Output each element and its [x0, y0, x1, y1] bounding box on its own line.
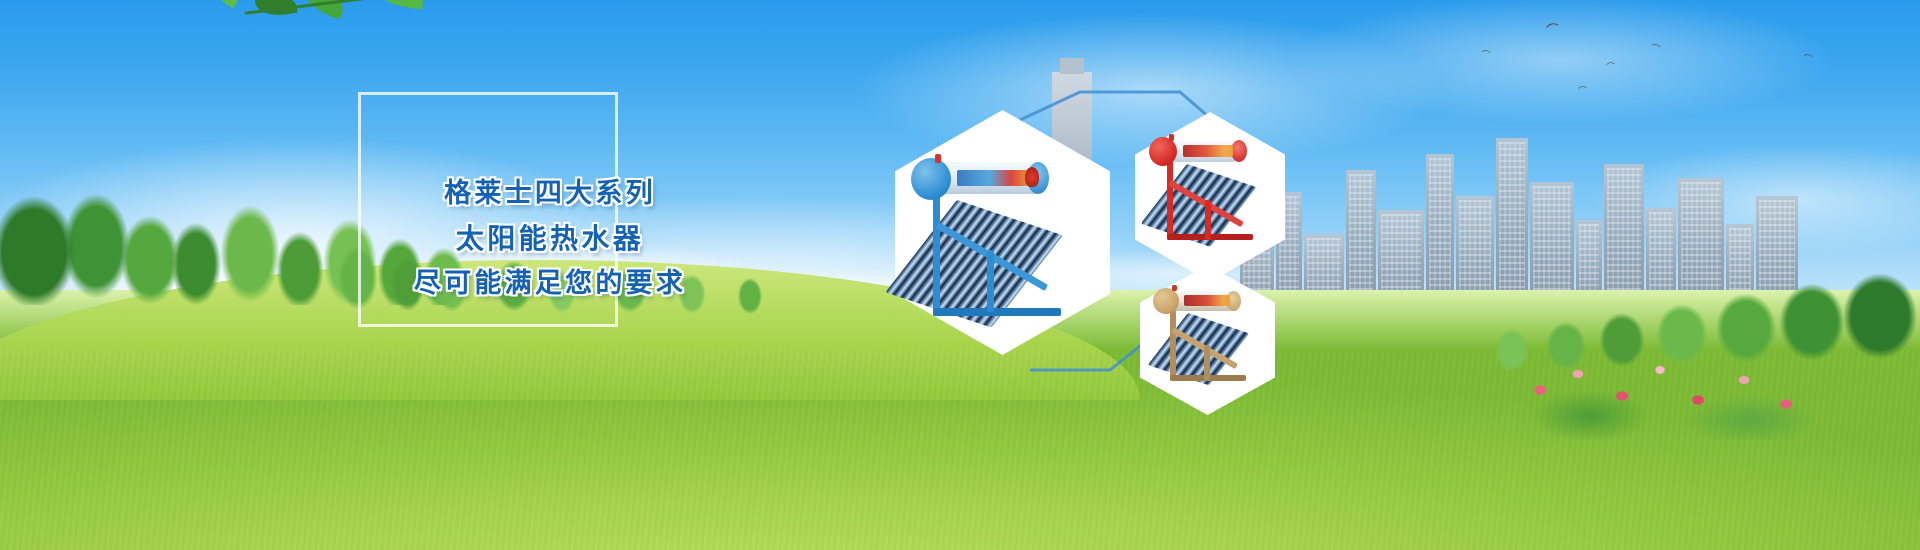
promo-banner: ︵ ︵ ︵ ︵ ︵ ︵: [0, 0, 1920, 550]
product-brand-label: [1183, 145, 1233, 157]
flower-bed: [1500, 330, 1860, 440]
headline-line-3: 尽可能满足您的要求: [375, 265, 725, 303]
headline-line-2: 太阳能热水器: [375, 219, 725, 259]
headline-block: 格莱士四大系列 太阳能热水器 尽可能满足您的要求: [375, 175, 725, 303]
bird-icon: ︵: [1481, 45, 1491, 55]
bird-icon: ︵: [1544, 15, 1559, 30]
red-solar-water-heater[interactable]: [1135, 112, 1285, 282]
blue-solar-water-heater[interactable]: [895, 110, 1110, 355]
bird-icon: ︵: [1803, 49, 1813, 59]
product-brand-label: [957, 170, 1029, 186]
headline-line-1: 格莱士四大系列: [375, 175, 725, 213]
product-brand-label: [1184, 295, 1230, 306]
gold-solar-water-heater[interactable]: [1140, 265, 1275, 415]
